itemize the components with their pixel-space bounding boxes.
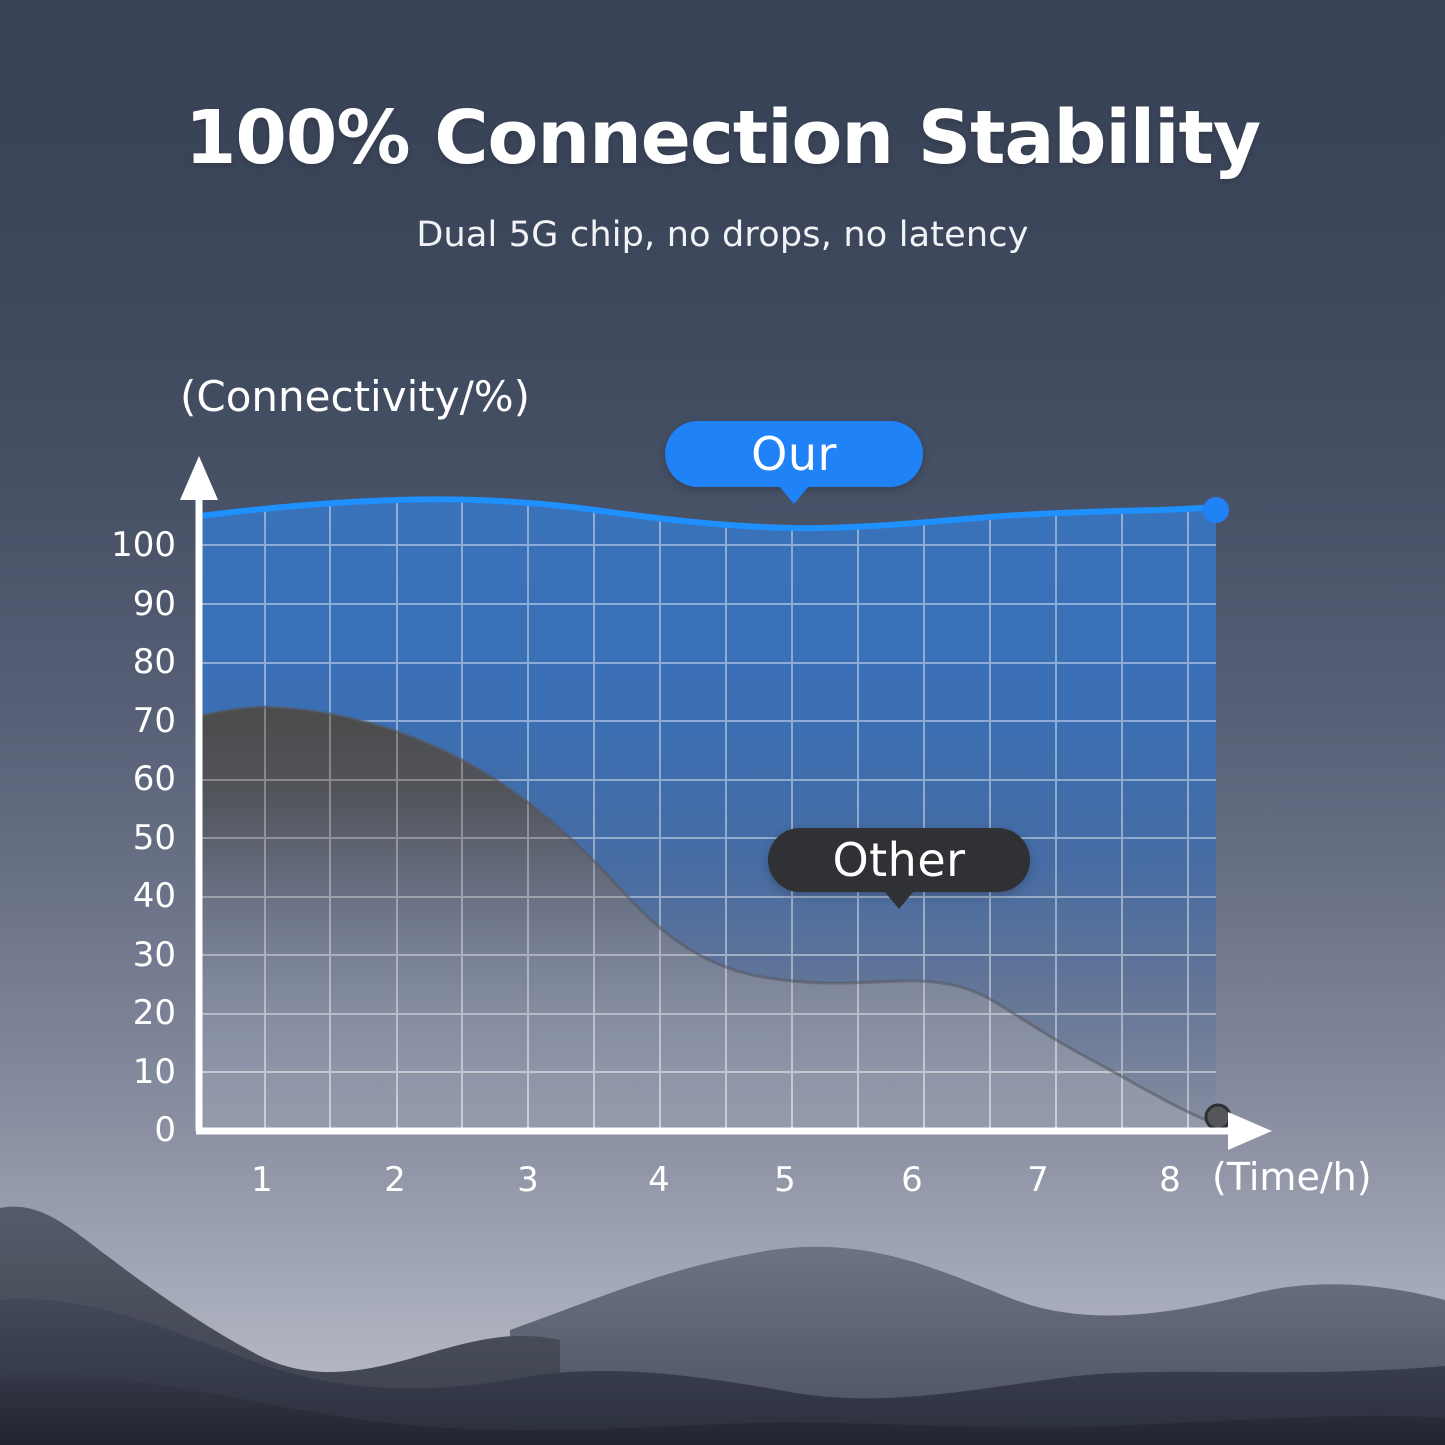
x-tick-2: 2 bbox=[365, 1163, 425, 1197]
x-tick-4: 4 bbox=[629, 1163, 689, 1197]
callout-pointer-icon bbox=[884, 891, 914, 909]
callout-badge-our[interactable]: Our bbox=[665, 421, 923, 487]
y-tick-90: 90 bbox=[106, 587, 176, 621]
y-tick-80: 80 bbox=[106, 645, 176, 679]
y-axis-tick-group: 100 90 80 70 60 50 40 30 20 10 0 bbox=[106, 0, 176, 1445]
x-tick-8: 8 bbox=[1140, 1163, 1200, 1197]
page-subtitle: Dual 5G chip, no drops, no latency bbox=[0, 215, 1445, 255]
callout-badge-other-label: Other bbox=[832, 833, 965, 887]
x-tick-7: 7 bbox=[1008, 1163, 1068, 1197]
callout-badge-our-label: Our bbox=[751, 427, 837, 481]
x-axis-label: (Time/h) bbox=[1212, 1155, 1372, 1199]
series-other-endpoint-marker bbox=[1206, 1105, 1230, 1129]
page-title: 100% Connection Stability bbox=[0, 98, 1445, 179]
y-tick-40: 40 bbox=[106, 879, 176, 913]
y-tick-30: 30 bbox=[106, 938, 176, 972]
x-tick-5: 5 bbox=[755, 1163, 815, 1197]
callout-badge-other[interactable]: Other bbox=[768, 828, 1030, 892]
series-our-endpoint-marker bbox=[1203, 497, 1229, 523]
y-tick-10: 10 bbox=[106, 1055, 176, 1089]
y-tick-100: 100 bbox=[106, 528, 176, 562]
callout-pointer-icon bbox=[779, 486, 809, 504]
x-tick-6: 6 bbox=[882, 1163, 942, 1197]
y-tick-20: 20 bbox=[106, 996, 176, 1030]
y-tick-50: 50 bbox=[106, 821, 176, 855]
x-tick-3: 3 bbox=[498, 1163, 558, 1197]
y-tick-60: 60 bbox=[106, 762, 176, 796]
y-axis-label: (Connectivity/%) bbox=[180, 372, 530, 421]
y-tick-0: 0 bbox=[106, 1113, 176, 1147]
x-tick-1: 1 bbox=[232, 1163, 292, 1197]
y-tick-70: 70 bbox=[106, 704, 176, 738]
infographic-canvas: 100% Connection Stability Dual 5G chip, … bbox=[0, 0, 1445, 1445]
